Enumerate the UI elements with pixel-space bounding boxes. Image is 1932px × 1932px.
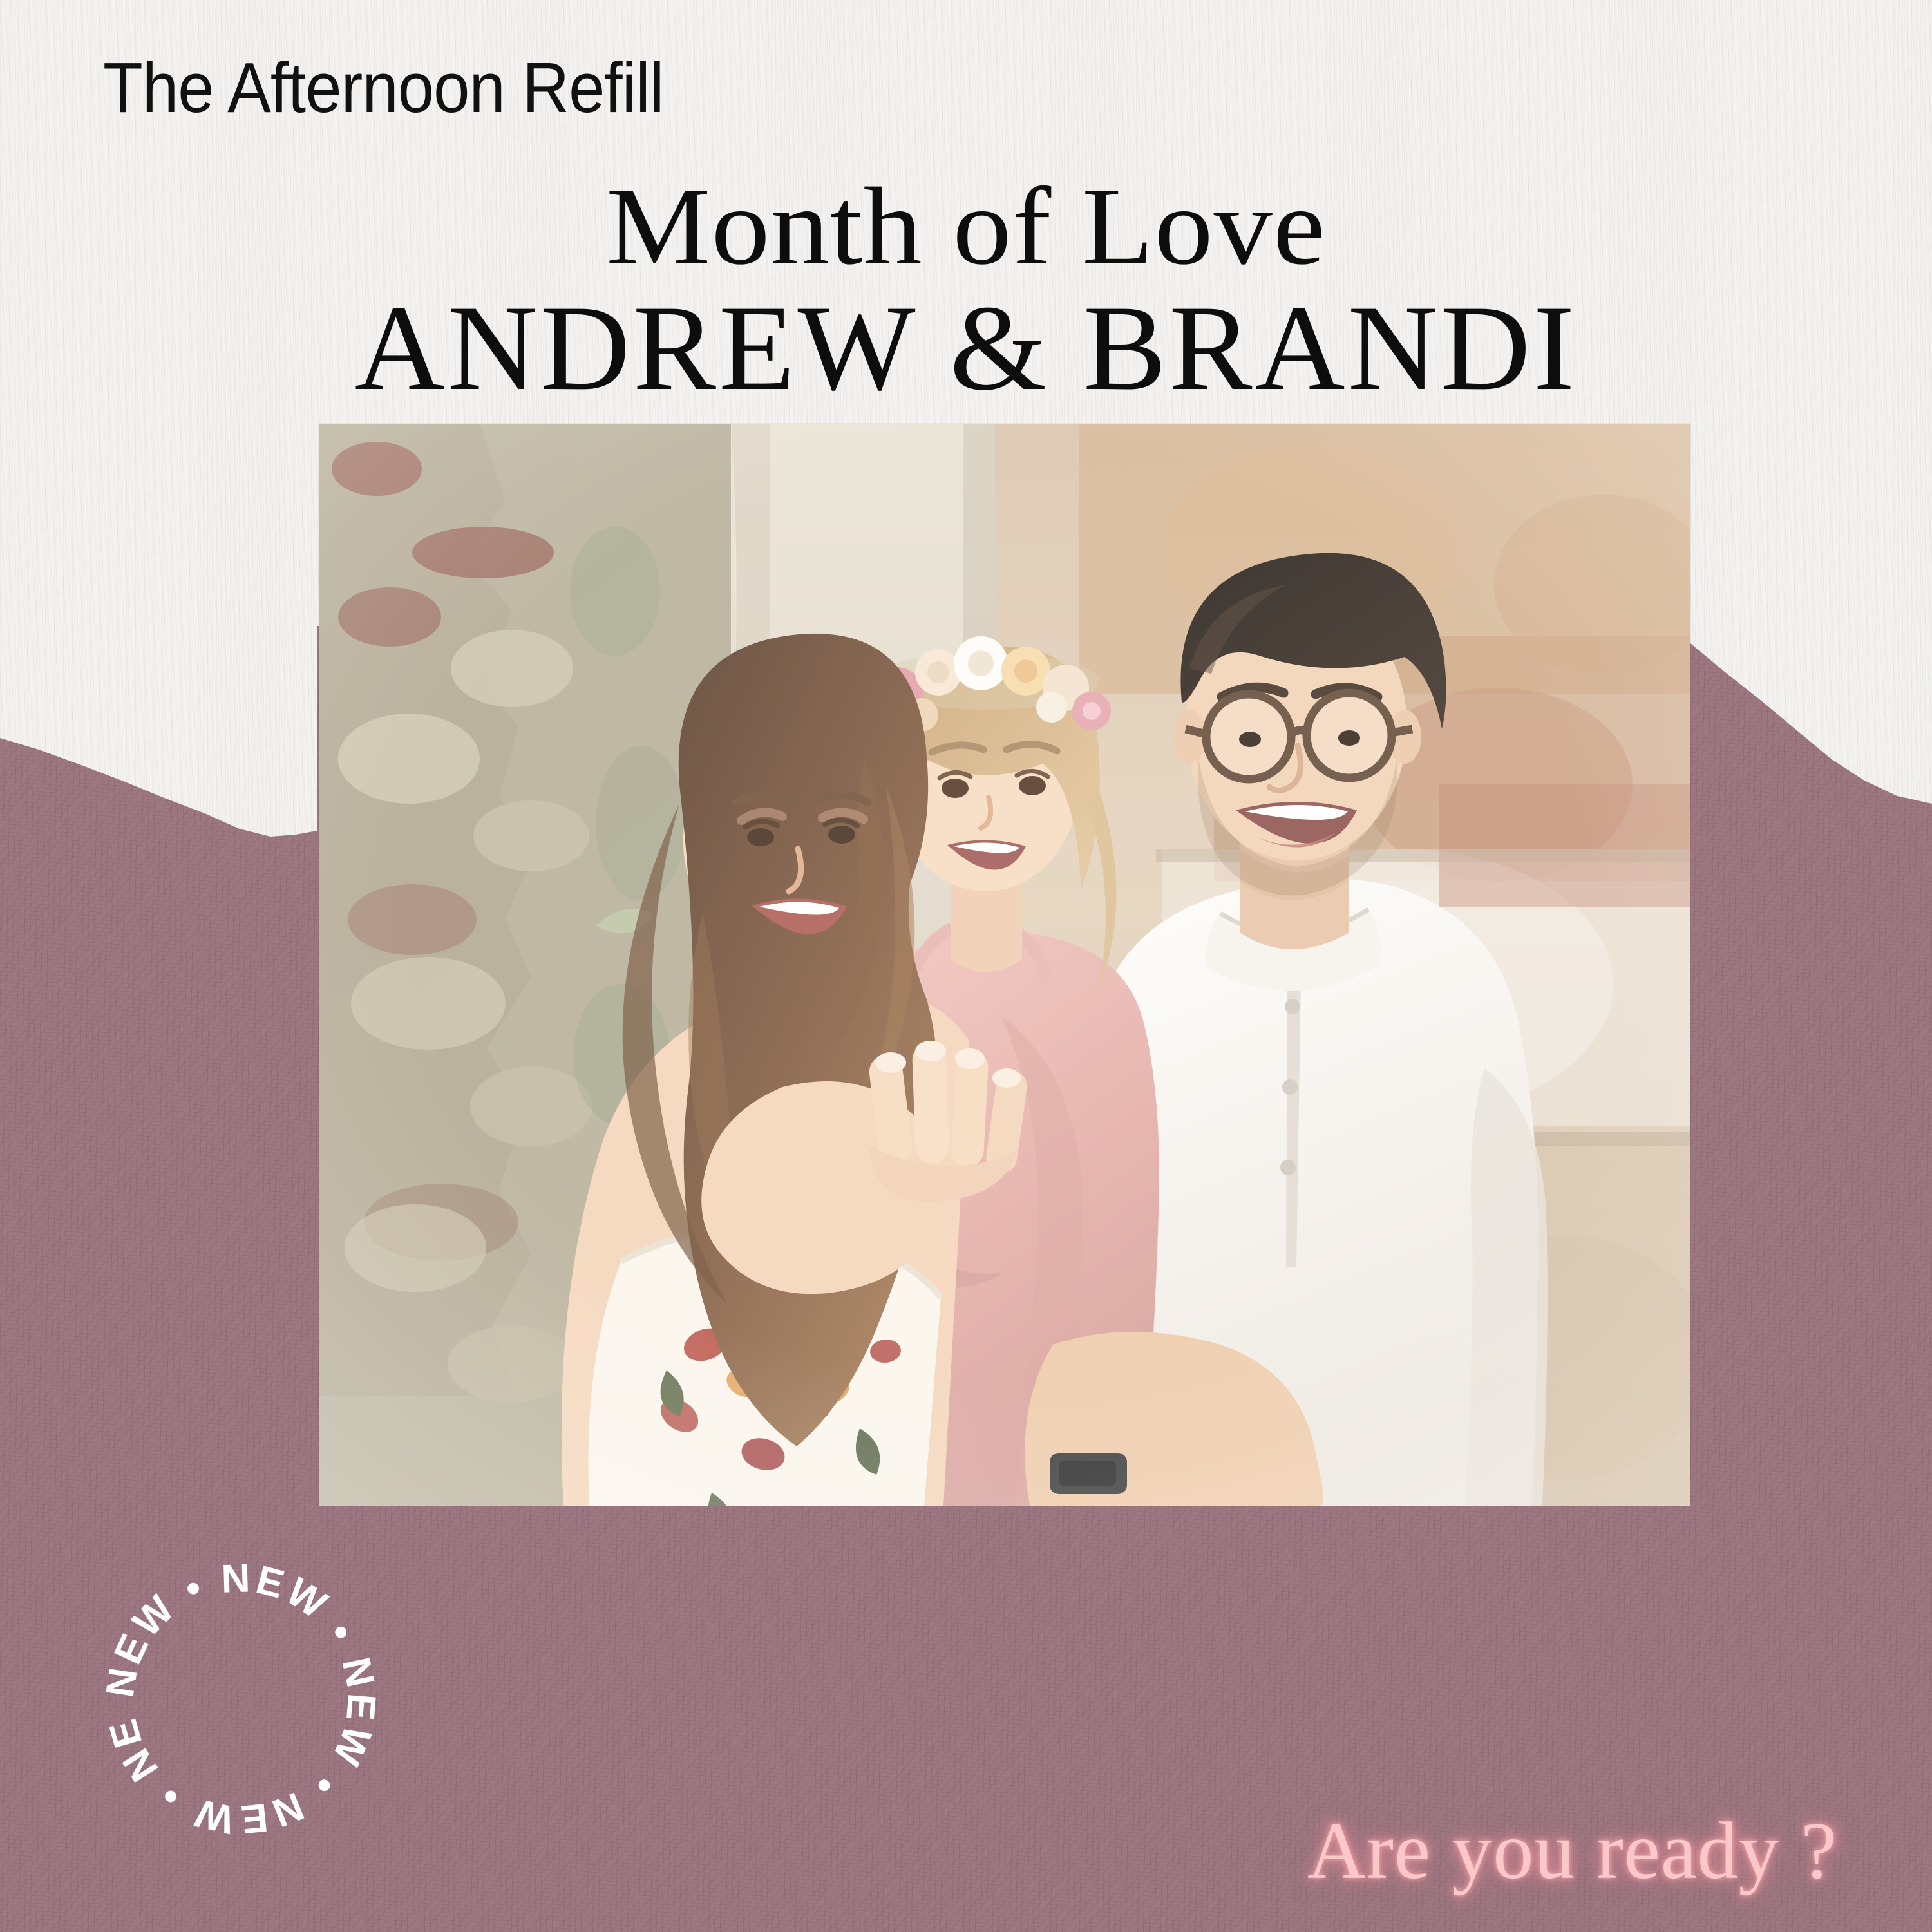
new-circular-badge[interactable]: NEW • NEW • NEW • NEW • NEW • NEW • [95, 1553, 386, 1844]
family-photo-illustration [319, 424, 1690, 1506]
promo-canvas: The Afternoon Refill Month of Love ANDRE… [0, 0, 1932, 1932]
headline-line-1: Month of Love [0, 173, 1932, 281]
new-badge-textpath: NEW • NEW • NEW • NEW • NEW • NEW • [75, 1518, 384, 1842]
headline-line-2: ANDREW & BRANDI [0, 287, 1932, 412]
new-badge-ring: NEW • NEW • NEW • NEW • NEW • NEW • [95, 1553, 386, 1844]
cta-are-you-ready: Are you ready ? [1307, 1811, 1837, 1892]
family-photo [319, 424, 1690, 1506]
new-badge-text: NEW • NEW • NEW • NEW • NEW • NEW • [75, 1518, 384, 1842]
headline-block: Month of Love ANDREW & BRANDI [0, 173, 1932, 411]
brand-kicker: The Afternoon Refill [103, 53, 663, 124]
